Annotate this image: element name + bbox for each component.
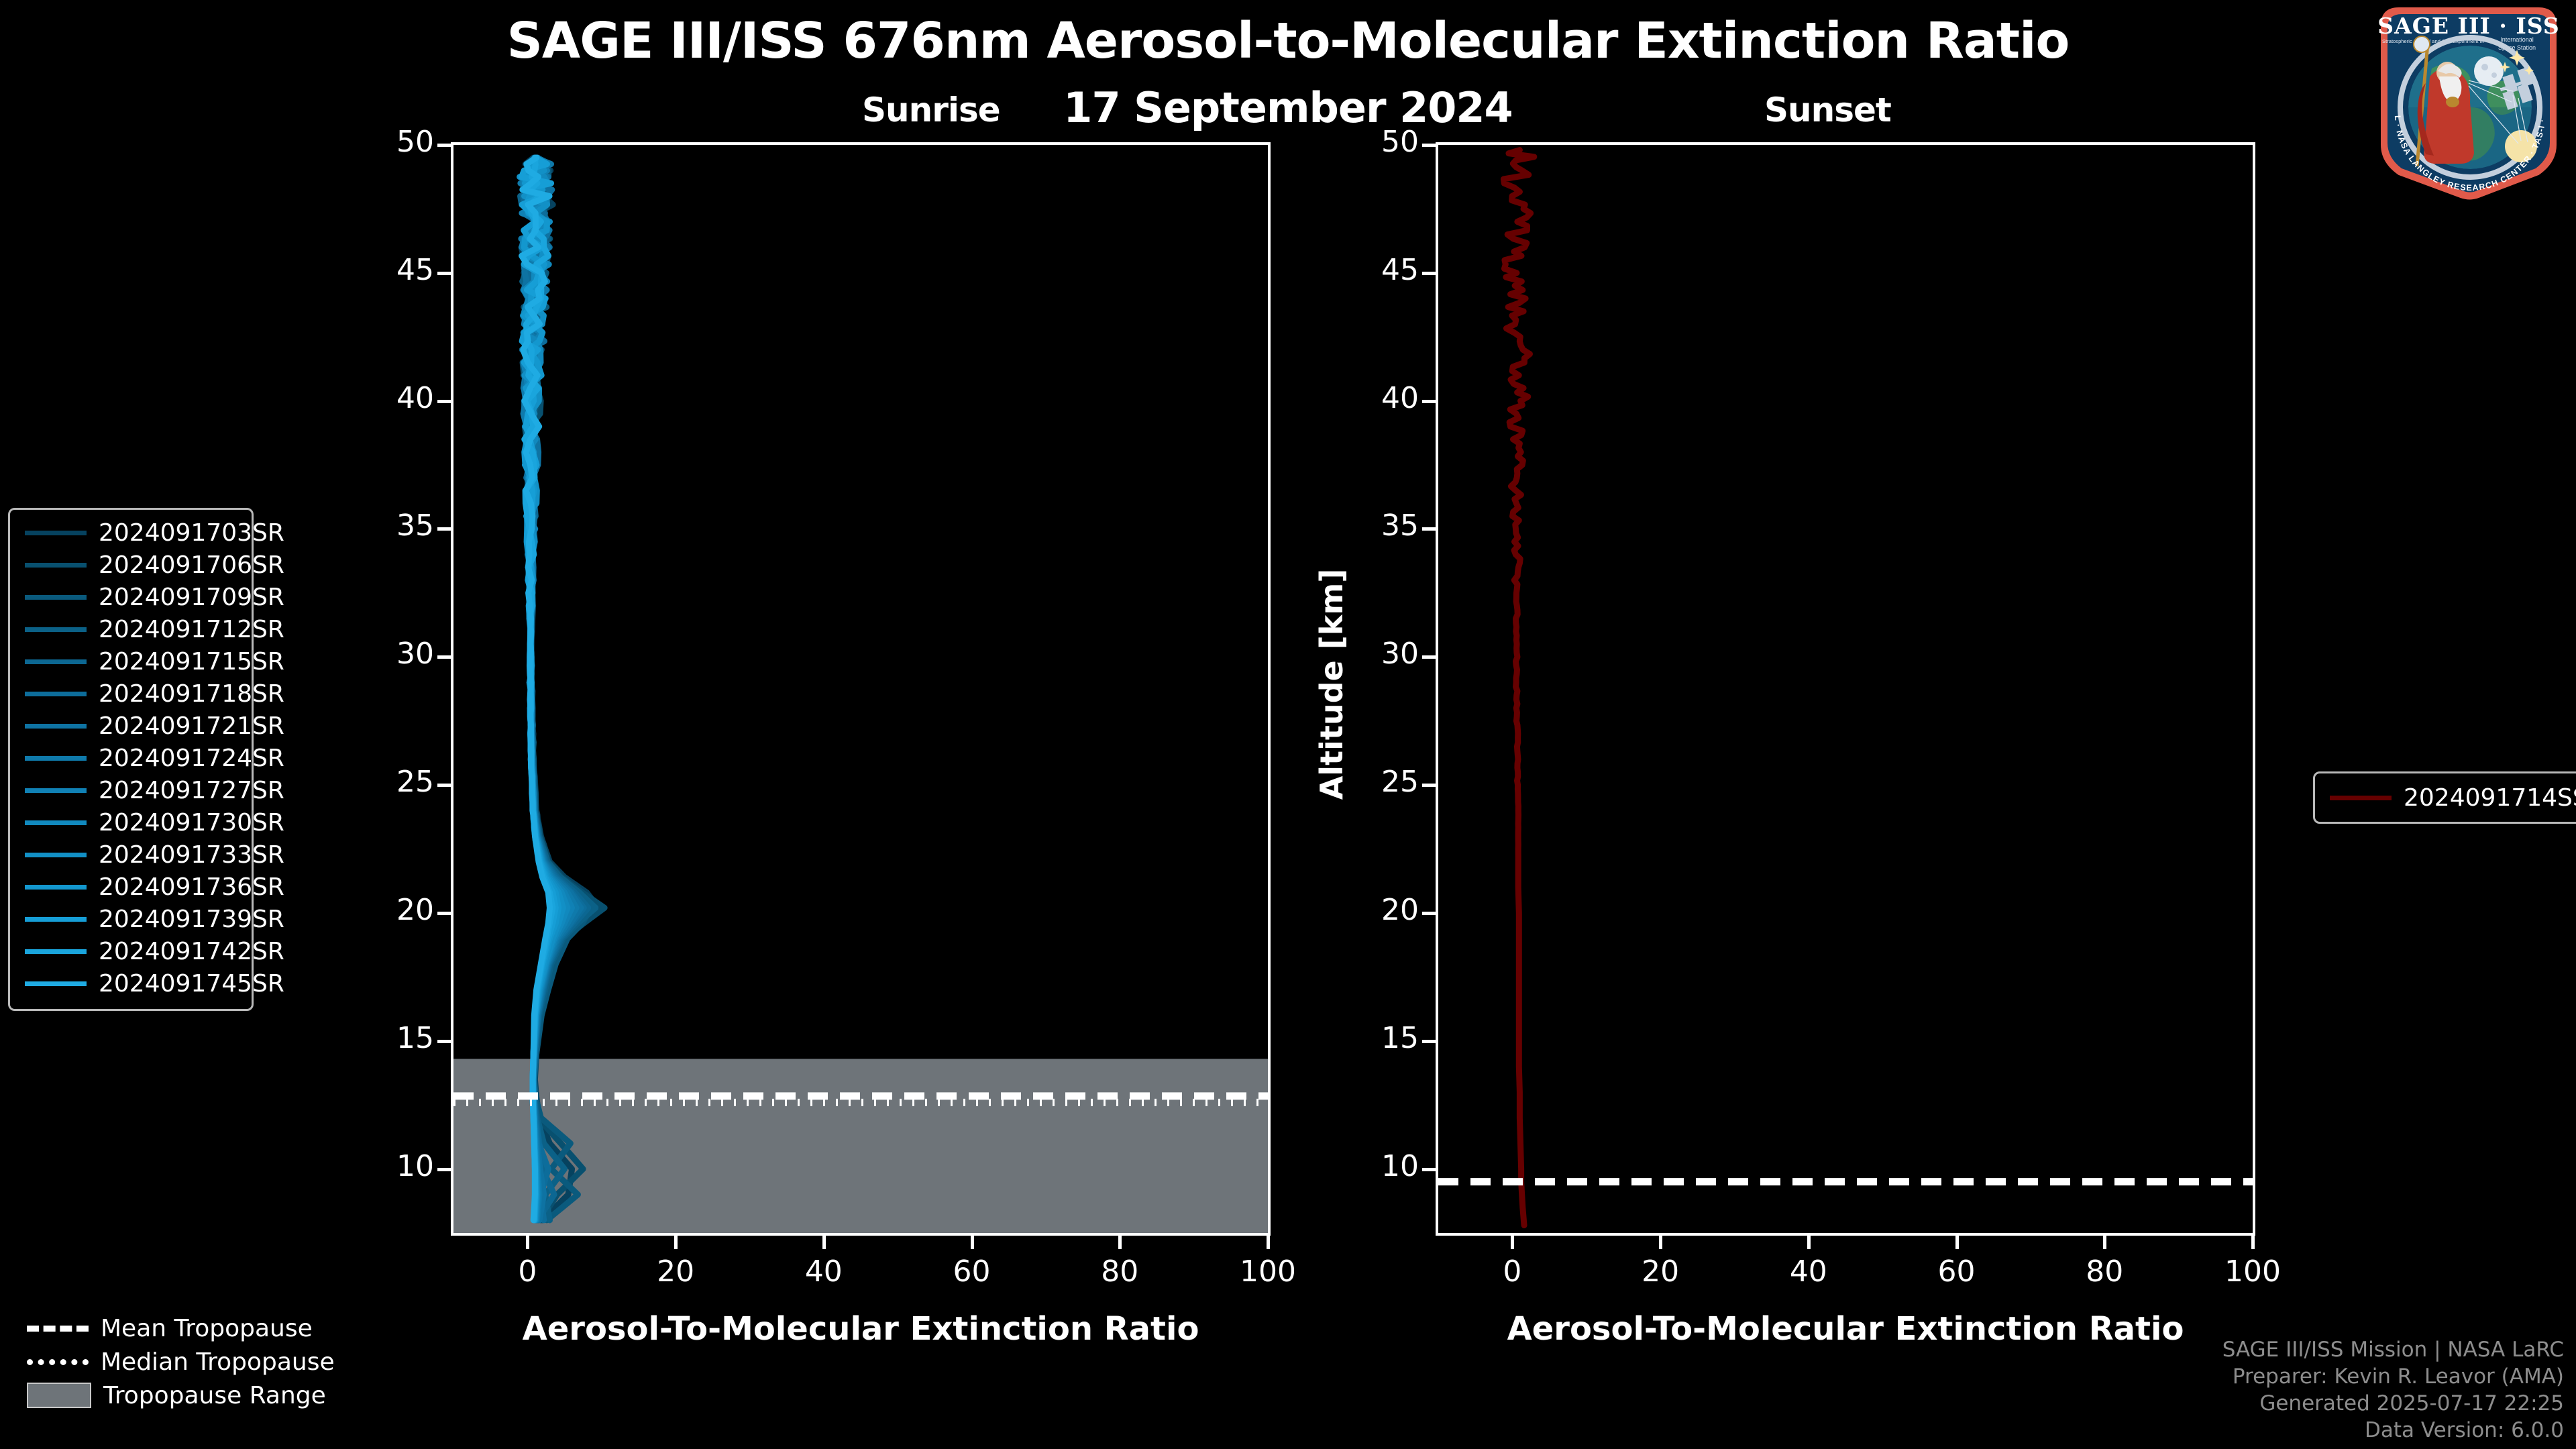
legend-item: 2024091730SR xyxy=(10,806,252,839)
sunrise-plot-panel xyxy=(451,142,1271,1236)
legend-item-label: 2024091712SR xyxy=(99,616,284,643)
y-tick-label: 10 xyxy=(1318,1149,1419,1183)
date-subtitle: 17 September 2024 xyxy=(1063,83,1512,132)
legend-item-label: 2024091745SR xyxy=(99,970,284,998)
x-tick-label: 0 xyxy=(460,1254,594,1289)
sunrise-x-axis-label: Aerosol-To-Molecular Extinction Ratio xyxy=(523,1310,1199,1348)
attribution-block: SAGE III/ISS Mission | NASA LaRC Prepare… xyxy=(2222,1336,2564,1444)
x-tick-label: 20 xyxy=(608,1254,743,1289)
legend-item: 2024091736SR xyxy=(10,871,252,903)
x-tick-label: 80 xyxy=(1053,1254,1187,1289)
y-tick-label: 10 xyxy=(333,1149,434,1183)
legend-item-label: 2024091739SR xyxy=(99,906,284,933)
x-tick-label: 100 xyxy=(2186,1254,2320,1289)
y-tick-label: 15 xyxy=(1318,1021,1419,1055)
legend-item: 2024091715SR xyxy=(10,645,252,678)
x-tick-label: 100 xyxy=(1201,1254,1335,1289)
legend-line-swatch xyxy=(25,595,87,600)
legend-item: 2024091706SR xyxy=(10,549,252,581)
y-tick-mark xyxy=(1422,527,1436,531)
y-tick-label: 40 xyxy=(333,381,434,415)
legend-item: 2024091724SR xyxy=(10,742,252,774)
x-tick-mark xyxy=(971,1236,974,1249)
sunset-plot-area xyxy=(1438,145,2253,1233)
x-tick-mark xyxy=(1267,1236,1270,1249)
legend-item: 2024091727SR xyxy=(10,774,252,806)
y-tick-mark xyxy=(1422,272,1436,275)
legend-item: 2024091742SR xyxy=(10,935,252,967)
sunset-plot-panel xyxy=(1436,142,2255,1236)
y-tick-mark xyxy=(437,784,451,787)
legend-line-swatch xyxy=(25,917,87,922)
sage-iii-iss-mission-patch-logo: SAGE III · ISS Stratospheric Aerosol and… xyxy=(2368,1,2569,203)
x-tick-label: 80 xyxy=(2037,1254,2171,1289)
legend-item-label: 2024091724SR xyxy=(99,745,284,772)
legend-line-swatch xyxy=(25,531,87,535)
tropopause-legend: Mean Tropopause Median Tropopause Tropop… xyxy=(12,1311,334,1412)
y-tick-label: 35 xyxy=(1318,508,1419,543)
x-tick-mark xyxy=(1118,1236,1122,1249)
legend-line-swatch xyxy=(25,659,87,664)
x-tick-mark xyxy=(2103,1236,2106,1249)
attribution-preparer: Preparer: Kevin R. Leavor (AMA) xyxy=(2222,1363,2564,1390)
y-tick-mark xyxy=(437,655,451,659)
x-tick-mark xyxy=(674,1236,678,1249)
legend-item-label: 2024091718SR xyxy=(99,680,284,708)
legend-item: 2024091703SR xyxy=(10,517,252,549)
x-tick-label: 20 xyxy=(1593,1254,1727,1289)
dashed-line-swatch xyxy=(27,1326,89,1332)
legend-item: 2024091718SR xyxy=(10,678,252,710)
y-tick-mark xyxy=(437,1040,451,1043)
y-tick-label: 25 xyxy=(333,765,434,799)
attribution-generated: Generated 2025-07-17 22:25 xyxy=(2222,1390,2564,1417)
legend-line-swatch xyxy=(25,788,87,793)
legend-line-swatch xyxy=(25,885,87,890)
legend-item-mean-tropopause: Mean Tropopause xyxy=(12,1311,334,1345)
legend-line-swatch xyxy=(25,853,87,857)
x-tick-label: 60 xyxy=(1890,1254,2024,1289)
legend-item: 2024091721SR xyxy=(10,710,252,742)
legend-line-swatch xyxy=(25,692,87,696)
y-tick-label: 45 xyxy=(333,253,434,287)
y-tick-mark xyxy=(1422,1168,1436,1171)
legend-item: 2024091709SR xyxy=(10,581,252,613)
x-tick-mark xyxy=(1807,1236,1811,1249)
x-tick-mark xyxy=(1511,1236,1514,1249)
legend-item: 2024091712SR xyxy=(10,613,252,645)
x-tick-label: 40 xyxy=(757,1254,891,1289)
legend-item-label: 2024091733SR xyxy=(99,841,284,869)
legend-item-label: 2024091736SR xyxy=(99,873,284,901)
legend-item-median-tropopause: Median Tropopause xyxy=(12,1345,334,1379)
y-tick-label: 15 xyxy=(333,1021,434,1055)
page-title: SAGE III/ISS 676nm Aerosol-to-Molecular … xyxy=(507,12,2070,70)
y-tick-label: 45 xyxy=(1318,253,1419,287)
sunset-panel-label: Sunset xyxy=(1764,91,1891,129)
dotted-line-swatch xyxy=(27,1359,89,1365)
x-tick-mark xyxy=(2251,1236,2255,1249)
x-tick-label: 60 xyxy=(905,1254,1039,1289)
y-tick-label: 20 xyxy=(333,893,434,927)
legend-item-label: 2024091714SS xyxy=(2404,784,2576,812)
legend-item-label: 2024091727SR xyxy=(99,777,284,804)
y-tick-label: 20 xyxy=(1318,893,1419,927)
legend-item-label: 2024091709SR xyxy=(99,584,284,611)
y-tick-mark xyxy=(437,912,451,915)
y-tick-mark xyxy=(437,272,451,275)
legend-item: 2024091745SR xyxy=(10,967,252,1000)
y-tick-mark xyxy=(1422,912,1436,915)
legend-line-swatch xyxy=(25,563,87,568)
y-tick-label: 50 xyxy=(333,125,434,159)
legend-item-label: 2024091730SR xyxy=(99,809,284,837)
x-tick-mark xyxy=(822,1236,826,1249)
attribution-data-version: Data Version: 6.0.0 xyxy=(2222,1417,2564,1444)
y-tick-mark xyxy=(1422,784,1436,787)
attribution-mission: SAGE III/ISS Mission | NASA LaRC xyxy=(2222,1336,2564,1363)
tropopause-range-band xyxy=(453,1059,1268,1233)
y-tick-mark xyxy=(437,527,451,531)
legend-line-swatch xyxy=(2330,796,2392,800)
y-tick-mark xyxy=(1422,655,1436,659)
legend-line-swatch xyxy=(25,756,87,761)
patch-subtitle-right-1: International xyxy=(2500,36,2534,43)
legend-line-swatch xyxy=(25,820,87,825)
y-tick-label: 30 xyxy=(333,637,434,671)
x-tick-mark xyxy=(526,1236,529,1249)
y-tick-mark xyxy=(437,400,451,403)
y-tick-mark xyxy=(1422,1040,1436,1043)
legend-line-swatch xyxy=(25,724,87,729)
legend-item-label: 2024091703SR xyxy=(99,519,284,547)
sunrise-plot-area xyxy=(453,145,1268,1233)
x-tick-mark xyxy=(1955,1236,1959,1249)
legend-item-label: 2024091721SR xyxy=(99,712,284,740)
legend-item-label: Median Tropopause xyxy=(101,1348,335,1376)
y-tick-label: 25 xyxy=(1318,765,1419,799)
range-band-swatch xyxy=(27,1383,91,1408)
legend-item-tropopause-range: Tropopause Range xyxy=(12,1379,334,1412)
sunset-legend: 2024091714SS xyxy=(2313,771,2576,824)
y-tick-mark xyxy=(437,1168,451,1171)
legend-item-label: Tropopause Range xyxy=(103,1382,326,1409)
legend-item: 2024091739SR xyxy=(10,903,252,935)
y-tick-mark xyxy=(437,144,451,147)
data-series-line xyxy=(1503,150,1534,1226)
y-tick-label: 30 xyxy=(1318,637,1419,671)
legend-item: 2024091714SS xyxy=(2315,782,2576,814)
sunrise-legend: 2024091703SR2024091706SR2024091709SR2024… xyxy=(8,508,254,1011)
legend-line-swatch xyxy=(25,627,87,632)
y-tick-mark xyxy=(1422,144,1436,147)
legend-item: 2024091733SR xyxy=(10,839,252,871)
y-tick-label: 40 xyxy=(1318,381,1419,415)
x-tick-label: 0 xyxy=(1445,1254,1579,1289)
legend-item-label: 2024091715SR xyxy=(99,648,284,676)
legend-item-label: 2024091706SR xyxy=(99,551,284,579)
x-tick-label: 40 xyxy=(1741,1254,1876,1289)
y-tick-mark xyxy=(1422,400,1436,403)
x-tick-mark xyxy=(1659,1236,1662,1249)
legend-line-swatch xyxy=(25,981,87,986)
sunset-x-axis-label: Aerosol-To-Molecular Extinction Ratio xyxy=(1507,1310,2184,1348)
y-tick-label: 35 xyxy=(333,508,434,543)
patch-moon xyxy=(2474,56,2504,86)
y-tick-label: 50 xyxy=(1318,125,1419,159)
legend-item-label: 2024091742SR xyxy=(99,938,284,965)
legend-item-label: Mean Tropopause xyxy=(101,1315,313,1342)
legend-line-swatch xyxy=(25,949,87,954)
sunrise-panel-label: Sunrise xyxy=(862,91,1000,129)
